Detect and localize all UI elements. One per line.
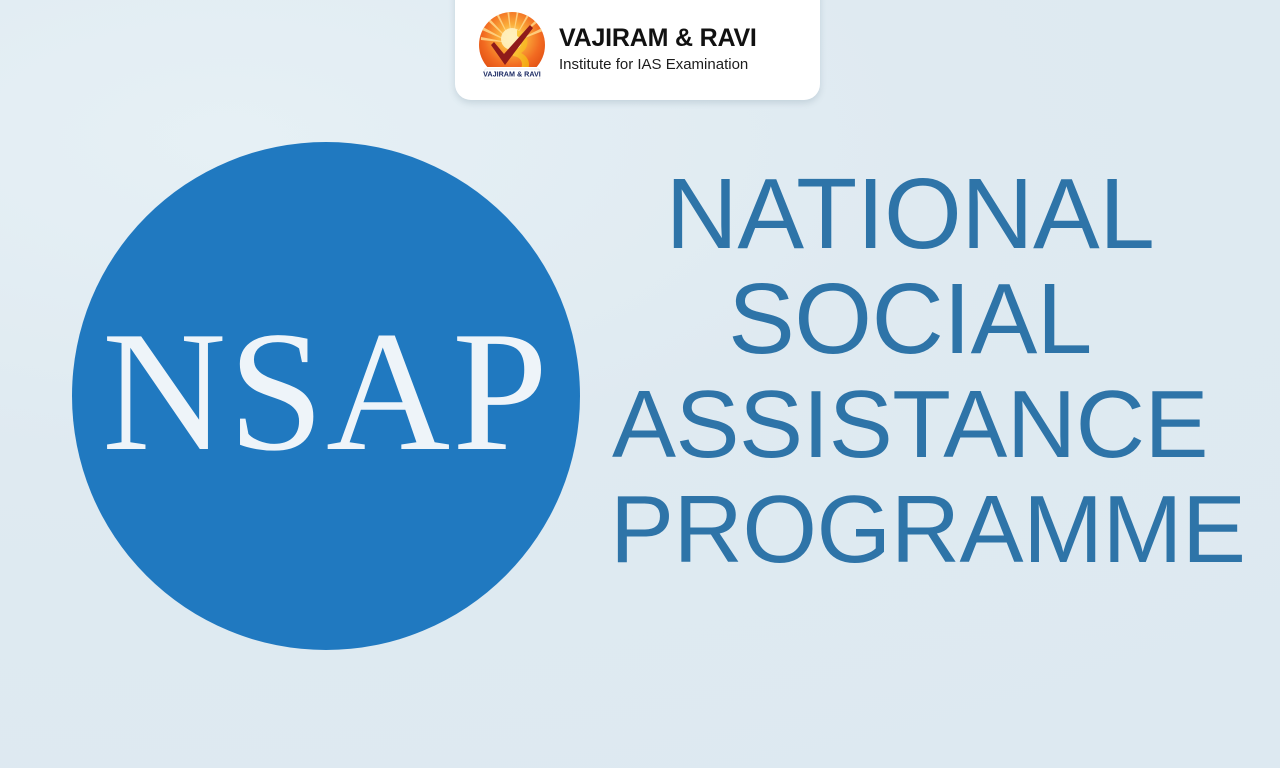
page-title: NATIONAL SOCIAL ASSISTANCE PROGRAMME [610,162,1210,582]
title-line-1: NATIONAL [610,162,1210,267]
brand-wordmark: VAJIRAM & RAVI Institute for IAS Examina… [559,26,757,72]
vajiram-ravi-sun-check-logo-icon: VAJIRAM & RAVI [473,9,551,87]
logo-banner-text: VAJIRAM & RAVI [483,70,541,79]
brand-name: VAJIRAM & RAVI [559,26,757,51]
brand-card: VAJIRAM & RAVI VAJIRAM & RAVI Institute … [455,0,820,100]
nsap-emblem: NSAP [72,142,580,650]
title-line-4: PROGRAMME [610,477,1210,582]
nsap-acronym-text: NSAP [102,306,550,478]
poster-canvas: VAJIRAM & RAVI VAJIRAM & RAVI Institute … [0,0,1280,768]
title-line-2: SOCIAL [610,267,1210,372]
brand-tagline: Institute for IAS Examination [559,57,757,72]
title-line-3: ASSISTANCE [610,372,1210,477]
